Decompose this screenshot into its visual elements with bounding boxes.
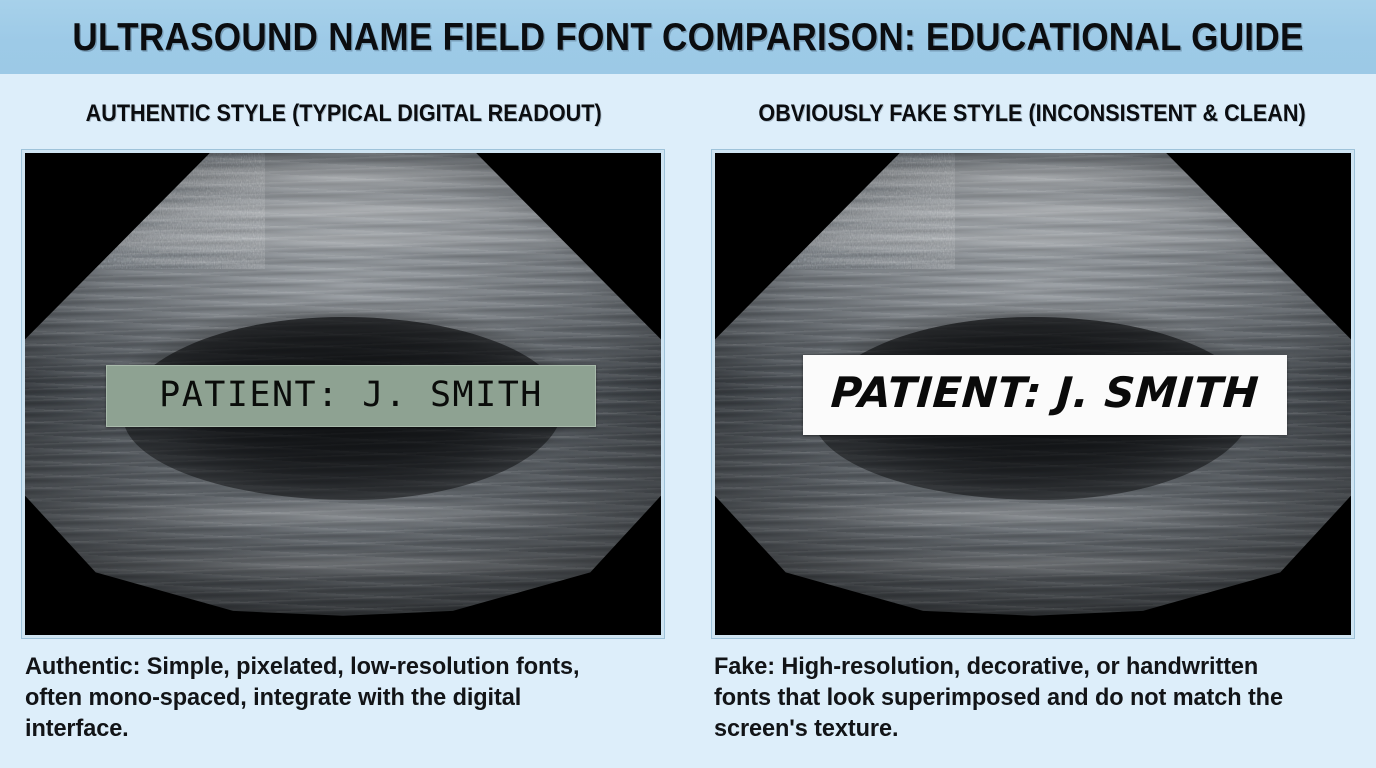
caption-authentic-lead: Authentic: [25, 653, 140, 680]
ultrasound-scan-fake: PATIENT: J. SMITH [715, 153, 1351, 635]
page-title: ULTRASOUND NAME FIELD FONT COMPARISON: E… [72, 18, 1303, 57]
caption-fake-lead: Fake: [714, 653, 775, 680]
ultrasound-scan-authentic: PATIENT: J. SMITH [25, 153, 661, 635]
section-heading-authentic-label: AUTHENTIC STYLE (TYPICAL DIGITAL READOUT… [86, 102, 602, 126]
comparison-infographic: ULTRASOUND NAME FIELD FONT COMPARISON: E… [0, 0, 1376, 768]
caption-fake-body: High-resolution, decorative, or handwrit… [714, 653, 1283, 742]
section-heading-fake-label: OBVIOUSLY FAKE STYLE (INCONSISTENT & CLE… [758, 102, 1305, 126]
overlay-label-fake-text: PATIENT: J. SMITH [830, 372, 1260, 414]
caption-fake: Fake: High-resolution, decorative, or ha… [714, 651, 1338, 744]
panel-fake: OBVIOUSLY FAKE STYLE (INCONSISTENT & CLE… [688, 74, 1376, 768]
panel-authentic: AUTHENTIC STYLE (TYPICAL DIGITAL READOUT… [0, 74, 688, 768]
overlay-label-authentic: PATIENT: J. SMITH [106, 365, 596, 427]
section-heading-fake: OBVIOUSLY FAKE STYLE (INCONSISTENT & CLE… [688, 102, 1376, 126]
ultrasound-frame-fake: PATIENT: J. SMITH [712, 150, 1354, 638]
caption-authentic: Authentic: Simple, pixelated, low-resolu… [25, 651, 649, 744]
overlay-label-fake: PATIENT: J. SMITH [803, 355, 1287, 435]
header-banner: ULTRASOUND NAME FIELD FONT COMPARISON: E… [0, 0, 1376, 74]
comparison-columns: AUTHENTIC STYLE (TYPICAL DIGITAL READOUT… [0, 74, 1376, 768]
ultrasound-frame-authentic: PATIENT: J. SMITH [22, 150, 664, 638]
section-heading-authentic: AUTHENTIC STYLE (TYPICAL DIGITAL READOUT… [0, 102, 688, 126]
overlay-label-authentic-text: PATIENT: J. SMITH [159, 378, 543, 413]
